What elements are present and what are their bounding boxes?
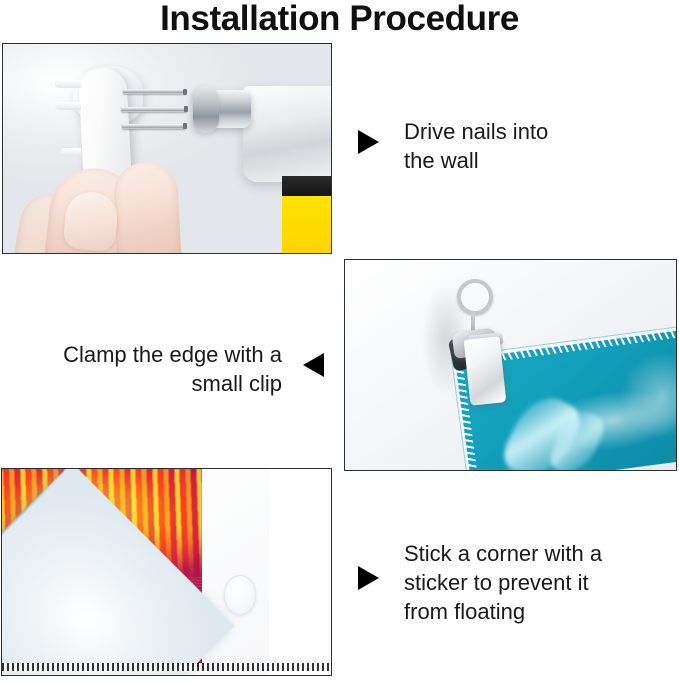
step-2-image-clip-fabric: [344, 259, 677, 471]
step-3-caption-line-2: sticker to prevent it: [404, 568, 644, 597]
page-title: Installation Procedure: [0, 0, 679, 39]
wall-right-area: [269, 469, 331, 675]
installation-procedure-infographic: Installation Procedure Drive nails into …: [0, 0, 679, 683]
nail-head-top: [183, 89, 187, 95]
nail-middle: [121, 107, 187, 112]
hammer-handle-black-band: [282, 176, 332, 196]
nail-top: [123, 89, 186, 94]
step-1-caption-line-1: Drive nails into: [404, 117, 634, 146]
step-1-caption: Drive nails into the wall: [404, 117, 634, 175]
hook-prong-top: [55, 80, 81, 88]
wall-sticker-dot: [224, 575, 256, 615]
step-2-caption-line-1: Clamp the edge with a: [30, 340, 282, 369]
step-3-caption: Stick a corner with a sticker to prevent…: [404, 539, 644, 626]
hook-prong-middle: [55, 102, 81, 110]
step-2-caption-line-2: small clip: [30, 369, 282, 398]
step-2-caption: Clamp the edge with a small clip: [30, 340, 282, 398]
hand-index-finger: [112, 160, 181, 254]
arrow-right-icon-step-1: [358, 130, 379, 154]
clip-front-plate: [464, 336, 507, 405]
tapestry-bottom-stitch-edge: [2, 663, 332, 671]
step-3-caption-line-1: Stick a corner with a: [404, 539, 644, 568]
hammer-striking-face: [193, 86, 219, 133]
hook-prong-bottom: [61, 148, 81, 156]
hammer-handle-yellow-grip: [282, 196, 332, 254]
step-1-image-nail-hook-hammer: [2, 43, 332, 254]
hammer-body-shape: [243, 86, 332, 182]
step-1-caption-line-2: the wall: [404, 146, 634, 175]
nail-head-middle: [184, 106, 188, 112]
arrow-right-icon-step-3: [358, 566, 379, 590]
step-3-caption-line-3: from floating: [404, 597, 644, 626]
step-3-image-flame-tapestry-sticker: [1, 468, 332, 676]
nail-bottom: [122, 124, 186, 129]
clip-hanging-ring: [457, 279, 493, 315]
arrow-left-icon-step-2: [303, 353, 324, 377]
nail-head-bottom: [183, 123, 187, 129]
